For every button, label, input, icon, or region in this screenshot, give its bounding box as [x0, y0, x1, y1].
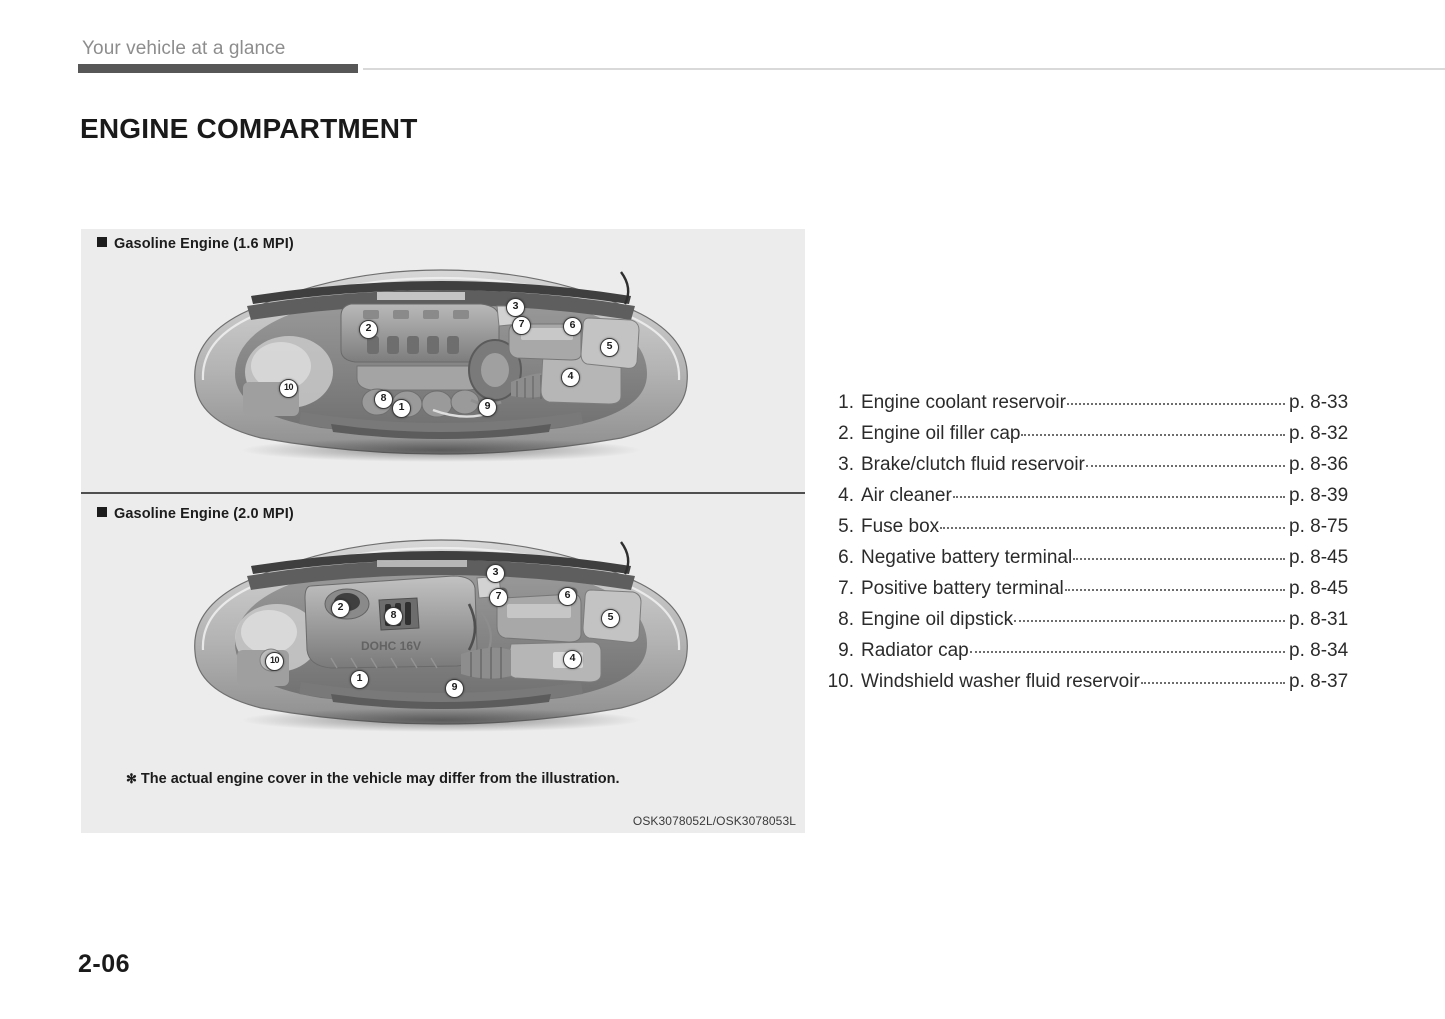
leader-dots — [970, 640, 1285, 653]
legend-item-5: 5. Fuse box p. 8-75 — [823, 516, 1363, 547]
panel-caption-label: Gasoline Engine (2.0 MPI) — [114, 506, 294, 522]
legend-item-4: 4. Air cleaner p. 8-39 — [823, 485, 1363, 516]
header-rule — [363, 68, 1445, 70]
callout-1: 1 — [392, 399, 411, 418]
legend-item-10: 10. Windshield washer fluid reservoir p.… — [823, 671, 1363, 702]
legend-item-7: 7. Positive battery terminal p. 8-45 — [823, 578, 1363, 609]
legend-label: Air cleaner — [861, 485, 952, 507]
leader-dots — [1021, 423, 1285, 436]
legend-number: 8. — [823, 609, 854, 631]
legend-item-8: 8. Engine oil dipstick p. 8-31 — [823, 609, 1363, 640]
legend-page-ref: p. 8-34 — [1289, 640, 1363, 662]
legend-item-9: 9. Radiator cap p. 8-34 — [823, 640, 1363, 671]
callout-7: 7 — [489, 588, 508, 607]
callout-5: 5 — [601, 609, 620, 628]
leader-dots — [1065, 578, 1285, 591]
legend-page-ref: p. 8-33 — [1289, 392, 1363, 414]
legend-item-6: 6. Negative battery terminal p. 8-45 — [823, 547, 1363, 578]
legend-label: Engine oil filler cap — [861, 423, 1020, 445]
engine-cover-text: DOHC 16V — [361, 639, 421, 653]
panel-caption-gasoline-2-0: Gasoline Engine (2.0 MPI) — [97, 506, 294, 522]
running-head: Your vehicle at a glance — [78, 38, 1368, 72]
engine-bay-drawing: DOHC 16V — [181, 532, 701, 732]
engine-bay-drawing — [181, 262, 701, 462]
legend-item-1: 1. Engine coolant reservoir p. 8-33 — [823, 392, 1363, 423]
callout-5: 5 — [600, 338, 619, 357]
callout-8: 8 — [384, 607, 403, 626]
legend-number: 2. — [823, 423, 854, 445]
leader-dots — [1086, 454, 1285, 467]
page-number: 2-06 — [78, 950, 130, 979]
legend-number: 9. — [823, 640, 854, 662]
legend-number: 10. — [823, 671, 854, 693]
panel-divider — [81, 492, 805, 494]
callout-4: 4 — [563, 650, 582, 669]
engine-bay-illustration-1-6-mpi: 3 2 7 6 5 4 10 8 1 9 — [181, 262, 701, 462]
page-title: ENGINE COMPARTMENT — [80, 113, 418, 145]
callout-10: 10 — [279, 379, 298, 398]
figure-id-label: OSK3078052L/OSK3078053L — [633, 814, 796, 828]
legend-page-ref: p. 8-32 — [1289, 423, 1363, 445]
legend-page-ref: p. 8-45 — [1289, 547, 1363, 569]
legend-page-ref: p. 8-36 — [1289, 454, 1363, 476]
asterisk-icon: ✻ — [126, 771, 137, 786]
legend-page-ref: p. 8-75 — [1289, 516, 1363, 538]
bullet-square-icon — [97, 237, 107, 247]
legend-label: Windshield washer fluid reservoir — [861, 671, 1140, 693]
legend-page-ref: p. 8-39 — [1289, 485, 1363, 507]
running-head-label: Your vehicle at a glance — [82, 38, 285, 60]
callout-9: 9 — [478, 398, 497, 417]
figure-note: ✻The actual engine cover in the vehicle … — [126, 771, 620, 787]
leader-dots — [1141, 671, 1285, 684]
callout-10: 10 — [265, 652, 284, 671]
panel-caption-gasoline-1-6: Gasoline Engine (1.6 MPI) — [97, 236, 294, 252]
leader-dots — [1067, 392, 1285, 405]
callout-7: 7 — [512, 316, 531, 335]
legend-number: 5. — [823, 516, 854, 538]
engine-compartment-figure-panel: Gasoline Engine (1.6 MPI) — [81, 229, 805, 833]
legend-number: 6. — [823, 547, 854, 569]
legend-label: Engine coolant reservoir — [861, 392, 1066, 414]
legend-page-ref: p. 8-45 — [1289, 578, 1363, 600]
figure-note-text: The actual engine cover in the vehicle m… — [141, 771, 620, 787]
leader-dots — [940, 516, 1285, 529]
callout-9: 9 — [445, 679, 464, 698]
leader-dots — [1014, 609, 1285, 622]
legend-list: 1. Engine coolant reservoir p. 8-33 2. E… — [823, 392, 1363, 702]
legend-label: Positive battery terminal — [861, 578, 1064, 600]
legend-number: 1. — [823, 392, 854, 414]
legend-item-2: 2. Engine oil filler cap p. 8-32 — [823, 423, 1363, 454]
bullet-square-icon — [97, 507, 107, 517]
callout-2: 2 — [359, 320, 378, 339]
legend-page-ref: p. 8-31 — [1289, 609, 1363, 631]
legend-number: 7. — [823, 578, 854, 600]
engine-bay-illustration-2-0-mpi: DOHC 16V — [181, 532, 701, 732]
legend-item-3: 3. Brake/clutch fluid reservoir p. 8-36 — [823, 454, 1363, 485]
legend-label: Engine oil dipstick — [861, 609, 1013, 631]
callout-6: 6 — [563, 317, 582, 336]
callout-1: 1 — [350, 670, 369, 689]
leader-dots — [1073, 547, 1285, 560]
panel-caption-label: Gasoline Engine (1.6 MPI) — [114, 236, 294, 252]
legend-number: 3. — [823, 454, 854, 476]
callout-4: 4 — [561, 368, 580, 387]
callout-3: 3 — [486, 564, 505, 583]
legend-label: Negative battery terminal — [861, 547, 1072, 569]
running-head-bar — [78, 64, 358, 73]
callout-2: 2 — [331, 599, 350, 618]
callout-3: 3 — [506, 298, 525, 317]
legend-label: Radiator cap — [861, 640, 969, 662]
legend-number: 4. — [823, 485, 854, 507]
legend-page-ref: p. 8-37 — [1289, 671, 1363, 693]
callout-6: 6 — [558, 587, 577, 606]
leader-dots — [953, 485, 1285, 498]
legend-label: Fuse box — [861, 516, 939, 538]
callout-8: 8 — [374, 390, 393, 409]
legend-label: Brake/clutch fluid reservoir — [861, 454, 1085, 476]
